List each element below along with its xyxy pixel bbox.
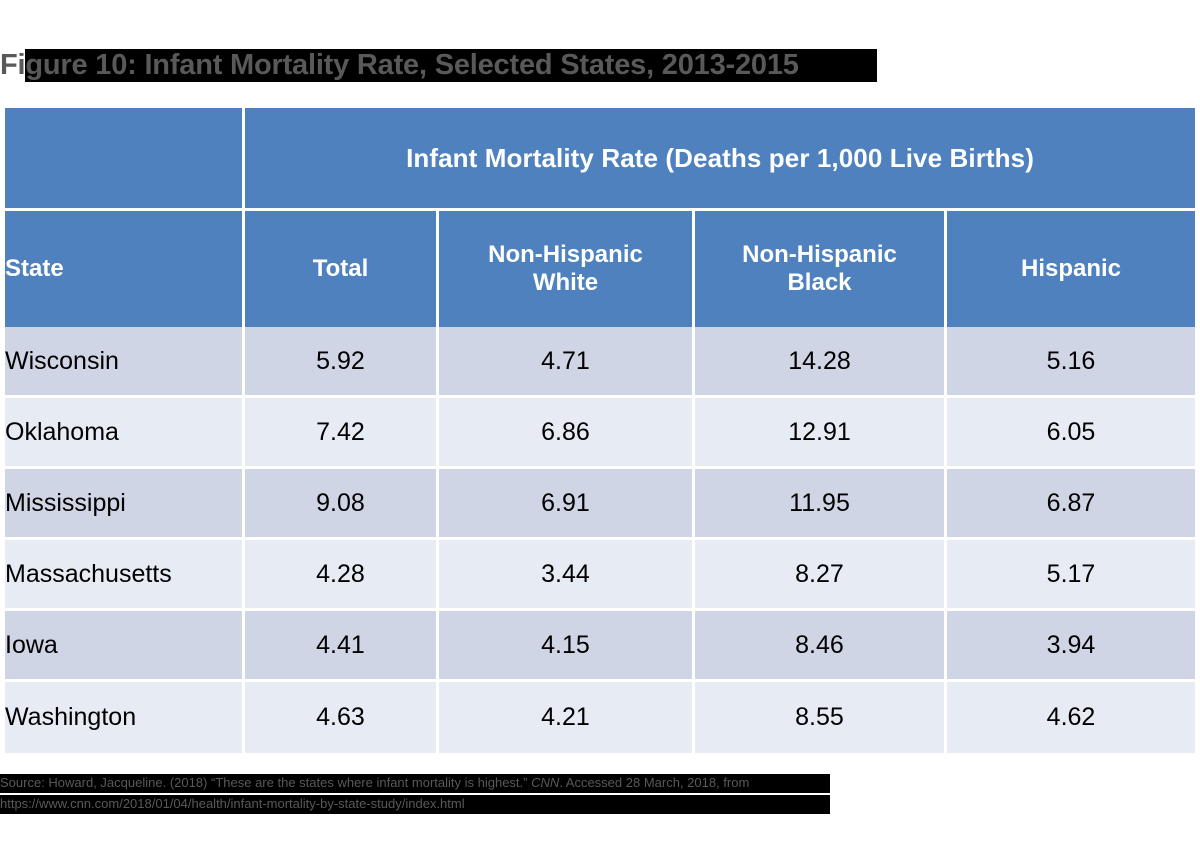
cell-hispanic: 6.87 <box>947 469 1195 540</box>
banner-header-label: Infant Mortality Rate (Deaths per 1,000 … <box>245 108 1195 211</box>
table-row[interactable]: Washington 4.63 4.21 8.55 4.62 <box>5 682 1195 753</box>
table-row[interactable]: Wisconsin 5.92 4.71 14.28 5.16 <box>5 327 1195 398</box>
infant-mortality-table-container: Infant Mortality Rate (Deaths per 1,000 … <box>5 108 1195 762</box>
cell-hispanic: 4.62 <box>947 682 1195 753</box>
cell-non-hispanic-white: 3.44 <box>439 540 695 611</box>
cell-non-hispanic-black: 11.95 <box>695 469 947 540</box>
cell-total: 9.08 <box>245 469 439 540</box>
column-header-nhw-line1: Non-Hispanic <box>488 241 643 268</box>
source-note: Source: Howard, Jacqueline. (2018) “Thes… <box>0 772 749 814</box>
cell-non-hispanic-white: 4.15 <box>439 611 695 682</box>
cell-total: 5.92 <box>245 327 439 398</box>
column-header-nhb-line2: Black <box>787 269 851 296</box>
cell-non-hispanic-black: 8.27 <box>695 540 947 611</box>
cell-non-hispanic-white: 4.21 <box>439 682 695 753</box>
cell-state: Wisconsin <box>5 327 245 398</box>
cell-state: Iowa <box>5 611 245 682</box>
source-note-line1-prefix: Source: Howard, Jacqueline. (2018) “Thes… <box>0 775 531 790</box>
cell-state: Oklahoma <box>5 398 245 469</box>
cell-total: 7.42 <box>245 398 439 469</box>
cell-hispanic: 3.94 <box>947 611 1195 682</box>
cell-total: 4.63 <box>245 682 439 753</box>
page-title: Figure 10: Infant Mortality Rate, Select… <box>0 47 799 83</box>
cell-non-hispanic-black: 14.28 <box>695 327 947 398</box>
column-header-hispanic-line1: Hispanic <box>1021 255 1121 282</box>
column-header-nhb-line1: Non-Hispanic <box>742 241 897 268</box>
table-column-header-row: State Total Non-Hispanic White Non-Hispa… <box>5 211 1195 327</box>
column-header-nhw-line2: White <box>533 269 598 296</box>
cell-total: 4.41 <box>245 611 439 682</box>
cell-hispanic: 6.05 <box>947 398 1195 469</box>
table-row[interactable]: Mississippi 9.08 6.91 11.95 6.87 <box>5 469 1195 540</box>
table-banner-row: Infant Mortality Rate (Deaths per 1,000 … <box>5 108 1195 211</box>
cell-state: Washington <box>5 682 245 753</box>
source-note-line1-suffix: . Accessed 28 March, 2018, from <box>559 775 749 790</box>
cell-state: Mississippi <box>5 469 245 540</box>
table-row[interactable]: Oklahoma 7.42 6.86 12.91 6.05 <box>5 398 1195 469</box>
table-body: Wisconsin 5.92 4.71 14.28 5.16 Oklahoma … <box>5 327 1195 753</box>
banner-corner-cell <box>5 108 245 211</box>
column-header-non-hispanic-black[interactable]: Non-Hispanic Black <box>695 211 947 327</box>
source-note-url[interactable]: https://www.cnn.com/2018/01/04/health/in… <box>0 793 749 814</box>
infant-mortality-table: Infant Mortality Rate (Deaths per 1,000 … <box>5 108 1195 753</box>
cell-non-hispanic-white: 6.86 <box>439 398 695 469</box>
cell-non-hispanic-white: 4.71 <box>439 327 695 398</box>
column-header-state[interactable]: State <box>5 211 245 327</box>
column-header-total-line1: Total <box>313 255 369 282</box>
column-header-state-line1: State <box>5 255 64 282</box>
table-row[interactable]: Iowa 4.41 4.15 8.46 3.94 <box>5 611 1195 682</box>
cell-non-hispanic-black: 8.46 <box>695 611 947 682</box>
column-header-non-hispanic-white[interactable]: Non-Hispanic White <box>439 211 695 327</box>
table-header: Infant Mortality Rate (Deaths per 1,000 … <box>5 108 1195 327</box>
column-header-total[interactable]: Total <box>245 211 439 327</box>
column-header-hispanic[interactable]: Hispanic <box>947 211 1195 327</box>
cell-state: Massachusetts <box>5 540 245 611</box>
cell-hispanic: 5.16 <box>947 327 1195 398</box>
cell-non-hispanic-black: 8.55 <box>695 682 947 753</box>
source-note-line1: Source: Howard, Jacqueline. (2018) “Thes… <box>0 772 749 793</box>
cell-total: 4.28 <box>245 540 439 611</box>
cell-hispanic: 5.17 <box>947 540 1195 611</box>
cell-non-hispanic-black: 12.91 <box>695 398 947 469</box>
source-note-publication: CNN <box>531 775 559 790</box>
cell-non-hispanic-white: 6.91 <box>439 469 695 540</box>
table-row[interactable]: Massachusetts 4.28 3.44 8.27 5.17 <box>5 540 1195 611</box>
